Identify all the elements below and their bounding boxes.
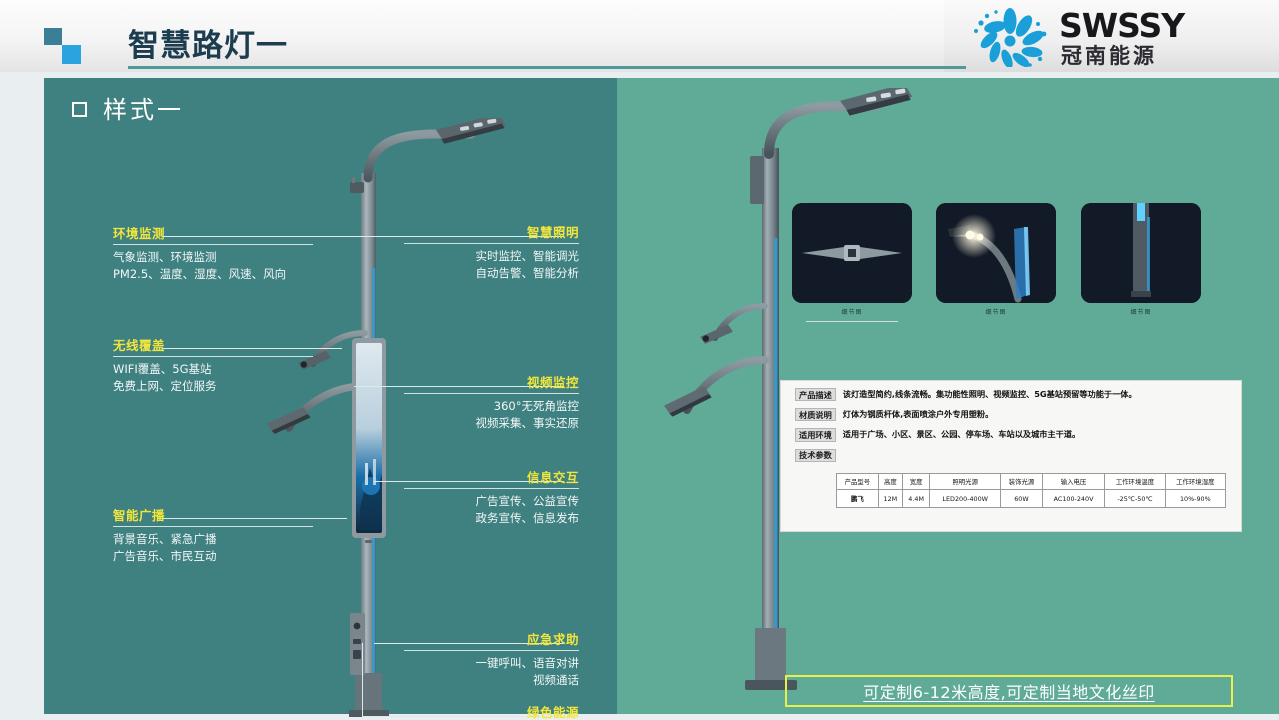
table-header-cell: 照明光源: [930, 474, 1001, 490]
banner-text: 可定制6-12米高度,可定制当地文化丝印: [863, 679, 1154, 703]
annotation-line: 政务宣传、信息发布: [404, 510, 579, 527]
annotation-heading: 智慧照明: [404, 222, 579, 243]
spec-row-parameters: 技术参数: [795, 449, 1241, 462]
annotation-line: 视频通话: [404, 672, 579, 689]
annotation-line: 实时监控、智能调光: [404, 248, 579, 265]
spec-row-environment: 适用环境 适用于广场、小区、景区、公园、停车场、车站以及城市主干道。: [795, 428, 1241, 441]
header-rule: [128, 66, 966, 69]
spec-row-material: 材质说明 灯体为钢质杆体,表面喷涂户外专用塑粉。: [795, 408, 1241, 421]
page-header: 智慧路灯一 SWSSY 冠南能源: [0, 0, 1279, 72]
annotation-rule: [113, 356, 313, 357]
spec-tag: 技术参数: [795, 449, 836, 462]
annotation-heading: 视频监控: [404, 372, 579, 393]
annotation-emergency-help: 应急求助 一键呼叫、语音对讲 视频通话: [404, 629, 579, 689]
table-cell: 4.4M: [903, 490, 930, 508]
brand-logo: SWSSY 冠南能源: [947, 5, 1267, 67]
annotation-heading: 智能广播: [113, 505, 313, 526]
table-row: 鹏飞 12M 4.4M LED200-400W 60W AC100-240V -…: [837, 490, 1226, 508]
annotation-line: 广告宣传、公益宣传: [404, 493, 579, 510]
annotation-rule: [113, 244, 313, 245]
annotation-line: 免费上网、定位服务: [113, 378, 313, 395]
annotation-line: 广告音乐、市民互动: [113, 548, 313, 565]
section-title-label: 样式一: [103, 90, 184, 125]
table-header-cell: 宽度: [903, 474, 930, 490]
spec-text: 适用于广场、小区、景区、公园、停车场、车站以及城市主干道。: [843, 428, 1080, 440]
page-title: 智慧路灯一: [128, 20, 288, 65]
annotation-line: WIFI覆盖、5G基站: [113, 361, 313, 378]
annotation-rule: [404, 488, 579, 489]
annotation-line: 一键呼叫、语音对讲: [404, 655, 579, 672]
spec-text: 该灯造型简约,线条流畅。集功能性照明、视频监控、5G基站预留等功能于一体。: [843, 388, 1137, 400]
annotation-information-interaction: 信息交互 广告宣传、公益宣传 政务宣传、信息发布: [404, 467, 579, 527]
annotation-smart-broadcast: 智能广播 背景音乐、紧急广播 广告音乐、市民互动: [113, 505, 313, 565]
table-header-cell: 装饰光源: [1001, 474, 1043, 490]
table-cell: AC100-240V: [1042, 490, 1104, 508]
specification-card: 产品描述 该灯造型简约,线条流畅。集功能性照明、视频监控、5G基站预留等功能于一…: [780, 380, 1242, 532]
leader-line: [362, 643, 363, 717]
lamp-bracket-detail-icon: [792, 203, 912, 303]
table-header-cell: 输入电压: [1042, 474, 1104, 490]
square-dark-icon: [44, 28, 62, 45]
annotation-heading: 无线覆盖: [113, 335, 313, 356]
spec-text: 灯体为钢质杆体,表面喷涂户外专用塑粉。: [843, 408, 994, 420]
annotation-rule: [404, 650, 579, 651]
annotation-smart-lighting: 智慧照明 实时监控、智能调光 自动告警、智能分析: [404, 222, 579, 282]
annotation-heading: 应急求助: [404, 629, 579, 650]
water-splash-logo-icon: [969, 7, 1051, 67]
caption-rule: [806, 321, 898, 322]
spec-row-description: 产品描述 该灯造型简约,线条流畅。集功能性照明、视频监控、5G基站预留等功能于一…: [795, 388, 1241, 401]
detail-thumbnails: 细节图: [792, 203, 1212, 333]
right-showcase-panel: 细节图: [617, 78, 1279, 714]
table-header-cell: 高度: [878, 474, 902, 490]
thumbnail-caption: 细节图: [792, 307, 912, 316]
table-cell: 60W: [1001, 490, 1043, 508]
thumbnail-caption: 细节图: [936, 307, 1056, 316]
annotation-line: 视频采集、事实还原: [404, 415, 579, 432]
table-cell: 10%-90%: [1165, 490, 1225, 508]
annotation-line: 自动告警、智能分析: [404, 265, 579, 282]
section-title: 样式一: [72, 90, 184, 125]
annotation-line: PM2.5、温度、湿度、风速、风向: [113, 266, 313, 283]
annotation-heading: 环境监测: [113, 223, 313, 244]
annotation-green-energy: 绿色能源 汽车充电 手机充电: [404, 702, 579, 720]
annotation-line: 背景音乐、紧急广播: [113, 531, 313, 548]
spec-tag: 适用环境: [795, 428, 836, 441]
annotation-video-surveillance: 视频监控 360°无死角监控 视频采集、事实还原: [404, 372, 579, 432]
specification-table: 产品型号 高度 宽度 照明光源 装饰光源 输入电压 工作环境温度 工作环境湿度 …: [836, 473, 1226, 508]
table-cell: LED200-400W: [930, 490, 1001, 508]
annotation-line: 360°无死角监控: [404, 398, 579, 415]
slide-body: 样式一: [0, 72, 1279, 720]
brand-subtitle: 冠南能源: [1061, 40, 1157, 70]
annotation-rule: [113, 526, 313, 527]
annotation-rule: [404, 243, 579, 244]
table-header-cell: 工作环境温度: [1105, 474, 1165, 490]
table-header-row: 产品型号 高度 宽度 照明光源 装饰光源 输入电压 工作环境温度 工作环境湿度: [837, 474, 1226, 490]
table-cell: 12M: [878, 490, 902, 508]
pole-column-detail-icon: [1081, 203, 1201, 303]
annotation-wireless-coverage: 无线覆盖 WIFI覆盖、5G基站 免费上网、定位服务: [113, 335, 313, 395]
annotation-environment-monitoring: 环境监测 气象监测、环境监测 PM2.5、温度、湿度、风速、风向: [113, 223, 313, 283]
table-header-cell: 工作环境湿度: [1165, 474, 1225, 490]
annotation-rule: [404, 393, 579, 394]
left-diagram-panel: 样式一: [44, 78, 617, 714]
thumbnail-lamp-head-detail[interactable]: [936, 203, 1056, 303]
thumbnail-pole-detail[interactable]: [1081, 203, 1201, 303]
customization-banner: 可定制6-12米高度,可定制当地文化丝印: [785, 675, 1233, 707]
thumbnail-caption: 细节图: [1081, 307, 1201, 316]
spec-tag: 产品描述: [795, 388, 836, 401]
square-outline-icon: [72, 102, 87, 117]
table-cell: -25℃-50℃: [1105, 490, 1165, 508]
lamp-head-lit-detail-icon: [936, 203, 1056, 303]
annotation-heading: 绿色能源: [404, 702, 579, 720]
table-header-cell: 产品型号: [837, 474, 879, 490]
annotation-heading: 信息交互: [404, 467, 579, 488]
annotation-line: 气象监测、环境监测: [113, 249, 313, 266]
table-cell: 鹏飞: [837, 490, 879, 508]
square-blue-icon: [62, 45, 81, 64]
thumbnail-bracket-detail[interactable]: [792, 203, 912, 303]
spec-tag: 材质说明: [795, 408, 836, 421]
header-decorative-squares: [44, 28, 82, 64]
